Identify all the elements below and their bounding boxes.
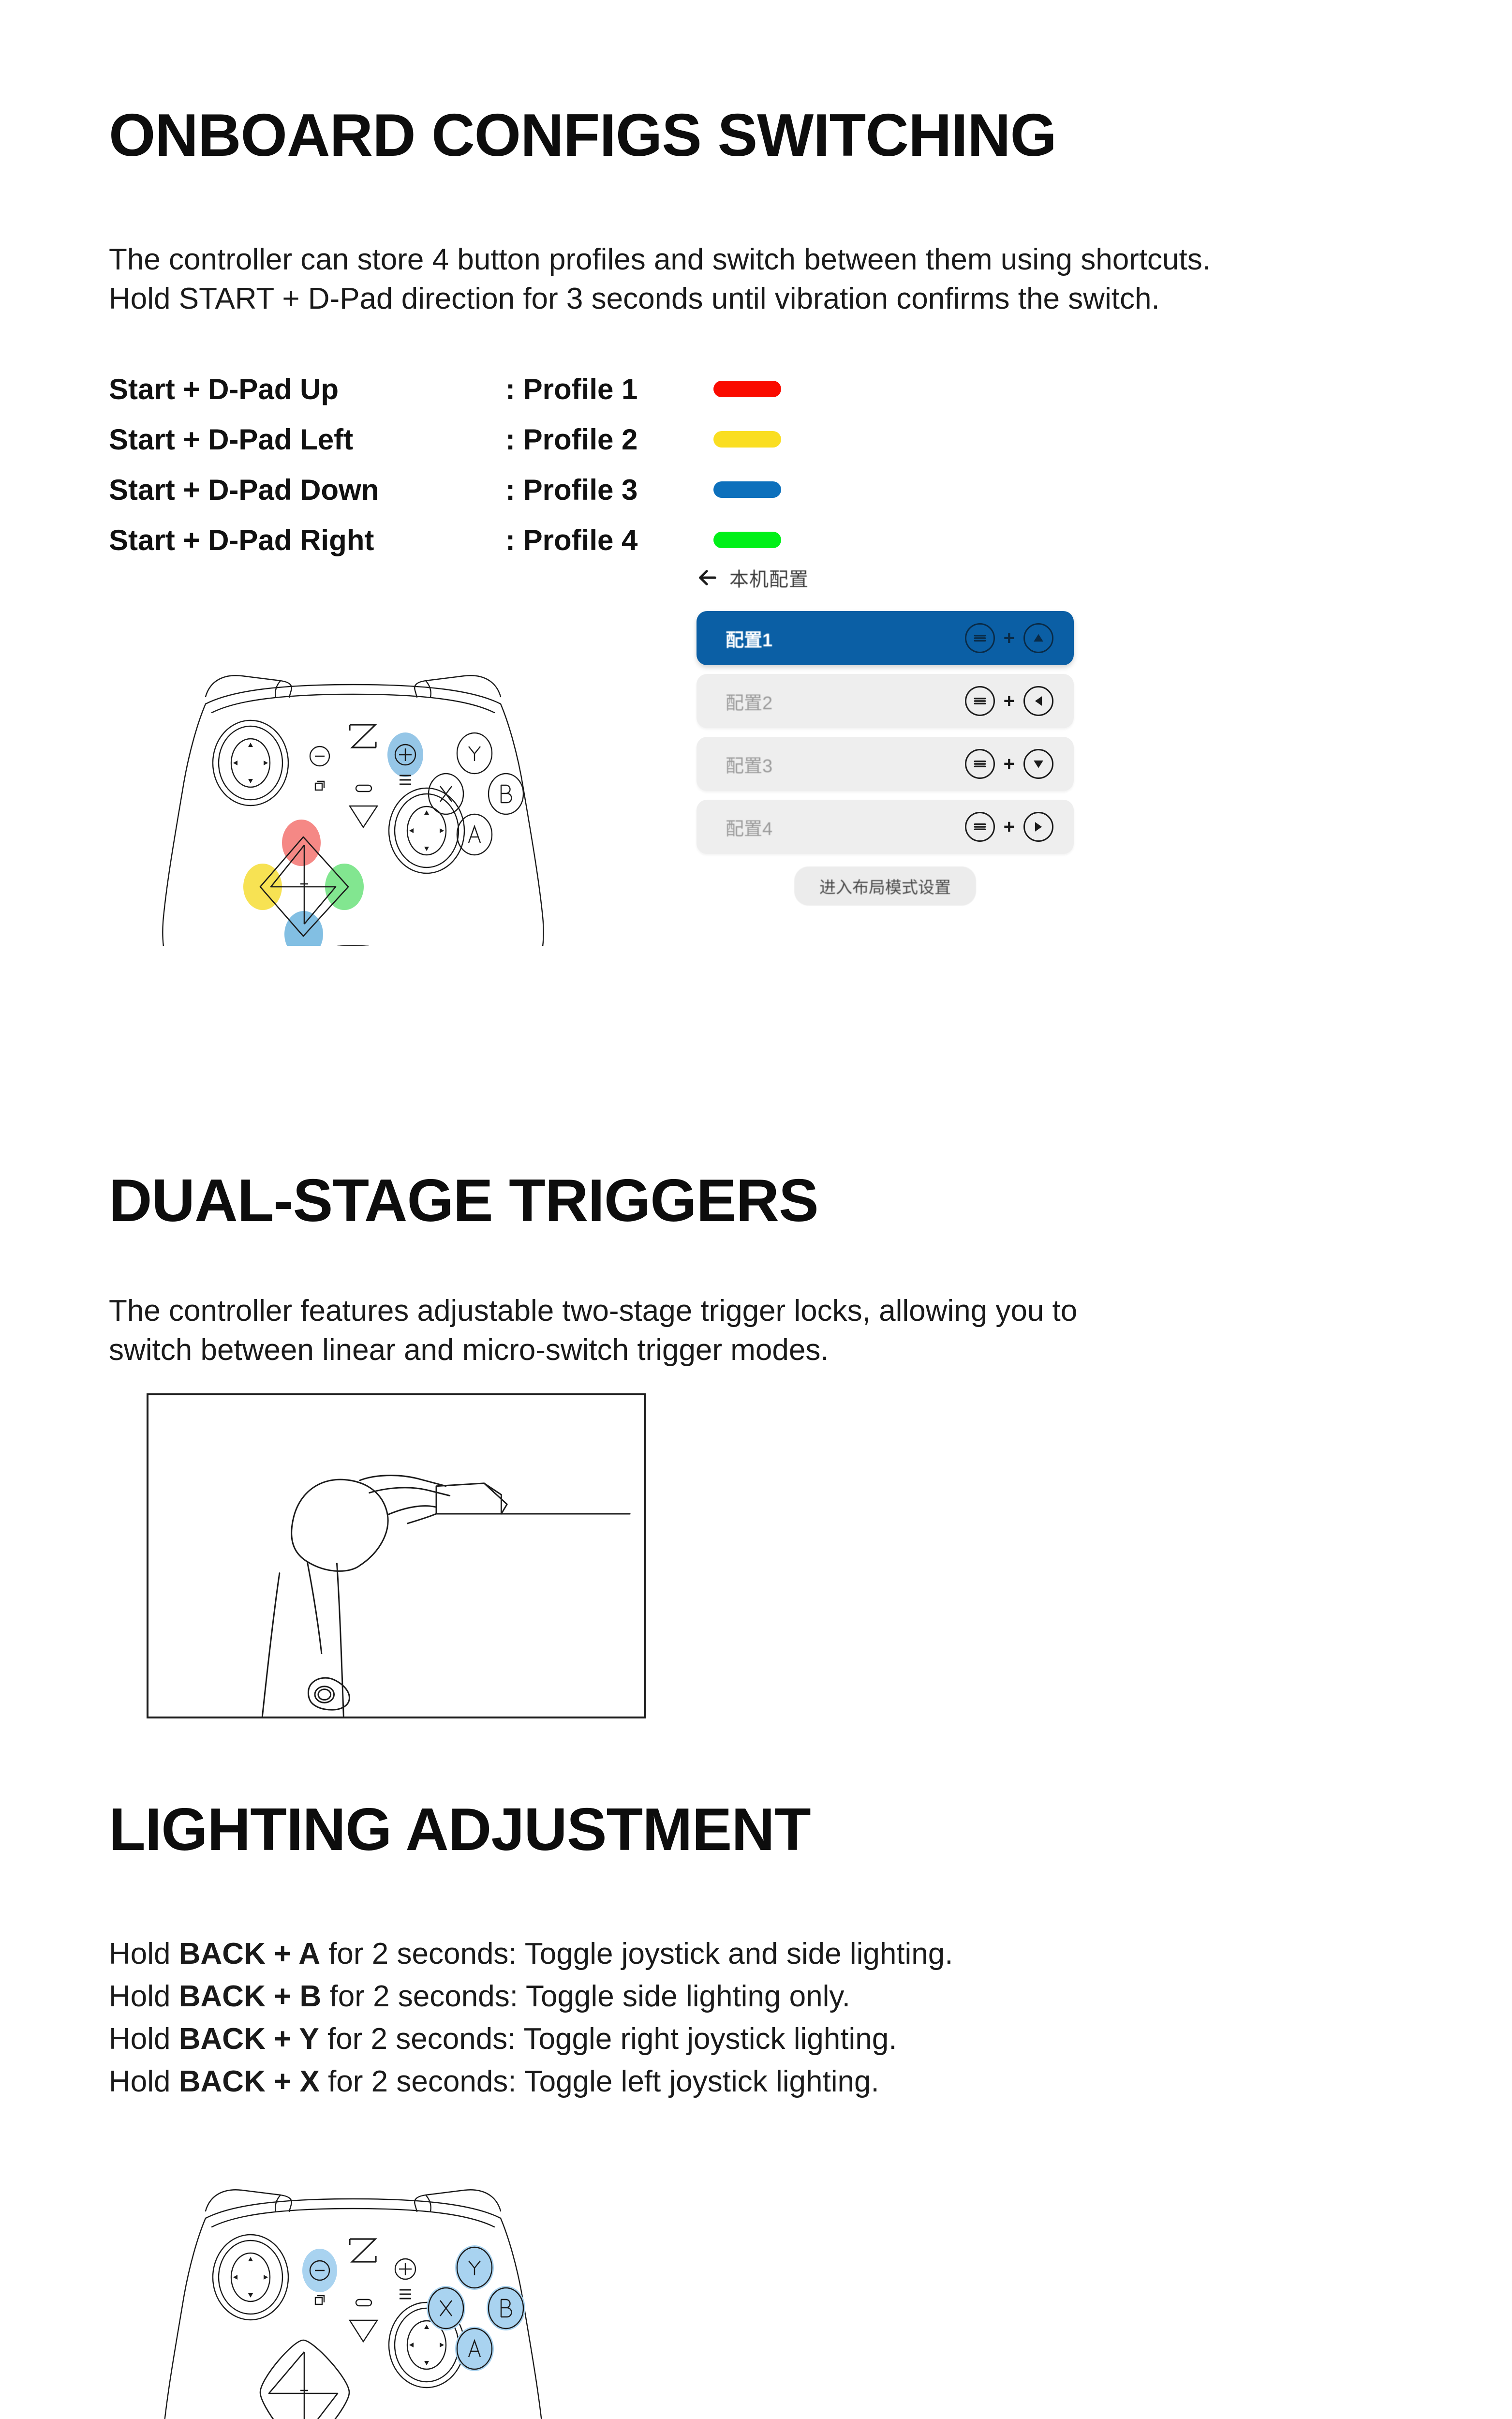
shortcut-combo: Start + D-Pad Right <box>109 523 505 557</box>
dual-stage-triggers-description-line1: The controller features adjustable two-s… <box>109 1294 1077 1328</box>
lighting-row-prefix: Hold <box>109 2022 179 2056</box>
shortcut-row: Start + D-Pad Right : Profile 4 <box>109 515 859 565</box>
profile-shortcut-combo: + <box>965 749 1053 779</box>
shortcut-swatch-cell <box>713 481 859 498</box>
shortcut-row: Start + D-Pad Up : Profile 1 <box>109 364 859 414</box>
profile-list: 配置1 + 配置2 <box>697 611 1074 854</box>
onboard-configs-app-panel: 本机配置 配置1 + <box>697 564 1074 906</box>
profile-card-label: 配置4 <box>726 814 965 840</box>
shortcut-swatch-cell <box>713 381 859 397</box>
profile-card-label: 配置1 <box>726 625 965 652</box>
manual-page: ONBOARD CONFIGS SWITCHING The controller… <box>0 0 1512 2419</box>
lighting-row-keys: BACK + X <box>179 2065 320 2098</box>
lighting-row-suffix: for 2 seconds: Toggle side lighting only… <box>321 1980 850 2013</box>
shortcut-profile: : Profile 1 <box>505 373 713 406</box>
lighting-shortcut-list: Hold BACK + A for 2 seconds: Toggle joys… <box>109 1933 1415 2103</box>
profile-color-swatch-green <box>713 532 781 548</box>
a-button-highlight <box>455 2327 494 2371</box>
controller-diagram-lighting-buttons <box>121 2121 585 2419</box>
page-title-onboard-configs: ONBOARD CONFIGS SWITCHING <box>109 105 1415 165</box>
shortcut-profile: : Profile 4 <box>505 523 713 557</box>
dpad-right-icon <box>1023 812 1053 842</box>
lighting-row-suffix: for 2 seconds: Toggle right joystick lig… <box>319 2022 897 2056</box>
lighting-row-prefix: Hold <box>109 2065 179 2098</box>
profile-card-label: 配置2 <box>726 688 965 715</box>
page-title-lighting-adjustment: LIGHTING ADJUSTMENT <box>109 1800 1415 1860</box>
shortcut-combo: Start + D-Pad Down <box>109 473 505 507</box>
shortcut-row: Start + D-Pad Left : Profile 2 <box>109 414 859 464</box>
lighting-row-keys: BACK + Y <box>179 2022 319 2056</box>
dpad-up-icon <box>1023 623 1053 653</box>
shortcut-combo: Start + D-Pad Up <box>109 373 505 406</box>
lighting-row-prefix: Hold <box>109 1980 179 2013</box>
lighting-row-suffix: for 2 seconds: Toggle left joystick ligh… <box>320 2065 879 2098</box>
panel-title: 本机配置 <box>729 564 809 592</box>
menu-lines-icon <box>965 812 995 842</box>
shortcut-profile: : Profile 2 <box>505 423 713 456</box>
lighting-shortcut-row: Hold BACK + B for 2 seconds: Toggle side… <box>109 1975 1415 2018</box>
plus-separator: + <box>1004 754 1015 774</box>
profile-card-1[interactable]: 配置1 + <box>697 611 1074 665</box>
onboard-configs-description-line2: Hold START + D-Pad direction for 3 secon… <box>109 282 1160 315</box>
dpad-down-icon <box>1023 749 1053 779</box>
plus-separator: + <box>1004 691 1015 711</box>
shortcut-table: Start + D-Pad Up : Profile 1 Start + D-P… <box>109 364 859 565</box>
menu-lines-icon <box>965 749 995 779</box>
lighting-shortcut-row: Hold BACK + A for 2 seconds: Toggle joys… <box>109 1933 1415 1975</box>
controller-diagram-dpad-profiles <box>121 607 585 946</box>
profile-shortcut-combo: + <box>965 623 1053 653</box>
lighting-row-keys: BACK + B <box>179 1980 322 2013</box>
plus-separator: + <box>1004 628 1015 648</box>
onboard-configs-description: The controller can store 4 button profil… <box>109 240 1502 318</box>
shortcut-row: Start + D-Pad Down : Profile 3 <box>109 464 859 515</box>
menu-lines-icon <box>965 623 995 653</box>
lighting-row-keys: BACK + A <box>179 1937 320 1971</box>
trigger-lock-figure <box>147 1393 646 1718</box>
lighting-shortcut-row: Hold BACK + X for 2 seconds: Toggle left… <box>109 2061 1415 2103</box>
profile-shortcut-combo: + <box>965 812 1053 842</box>
profile-color-swatch-red <box>713 381 781 397</box>
shortcut-swatch-cell <box>713 431 859 448</box>
profile-color-swatch-blue <box>713 481 781 498</box>
profile-card-2[interactable]: 配置2 + <box>697 674 1074 728</box>
profile-shortcut-combo: + <box>965 686 1053 716</box>
dual-stage-triggers-description: The controller features adjustable two-s… <box>109 1292 1376 1370</box>
page-title-dual-stage-triggers: DUAL-STAGE TRIGGERS <box>109 1171 1415 1231</box>
onboard-configs-description-line1: The controller can store 4 button profil… <box>109 243 1211 276</box>
dpad-left-icon <box>1023 686 1053 716</box>
panel-footer: 进入布局模式设置 <box>697 866 1074 906</box>
lighting-row-suffix: for 2 seconds: Toggle joystick and side … <box>320 1937 953 1971</box>
enter-layout-mode-button[interactable]: 进入布局模式设置 <box>794 866 976 906</box>
profile-card-label: 配置3 <box>726 751 965 777</box>
dual-stage-triggers-description-line2: switch between linear and micro-switch t… <box>109 1333 829 1367</box>
menu-lines-icon <box>965 686 995 716</box>
profile-color-swatch-yellow <box>713 431 781 448</box>
shortcut-swatch-cell <box>713 532 859 548</box>
lighting-shortcut-row: Hold BACK + Y for 2 seconds: Toggle righ… <box>109 2018 1415 2061</box>
profile-card-4[interactable]: 配置4 + <box>697 800 1074 854</box>
shortcut-profile: : Profile 3 <box>505 473 713 507</box>
shortcut-combo: Start + D-Pad Left <box>109 423 505 456</box>
profile-card-3[interactable]: 配置3 + <box>697 737 1074 791</box>
plus-separator: + <box>1004 817 1015 836</box>
arrow-left-icon[interactable] <box>697 567 719 589</box>
dpad-up-highlight <box>282 820 321 866</box>
lighting-row-prefix: Hold <box>109 1937 179 1971</box>
panel-header: 本机配置 <box>697 564 1074 592</box>
